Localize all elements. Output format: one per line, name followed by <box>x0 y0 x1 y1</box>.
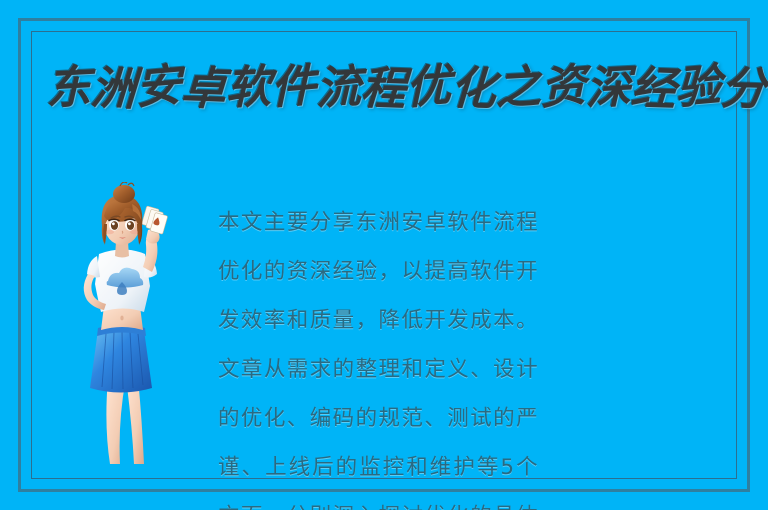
page-title: 东洲安卓软件流程优化之资深经验分享 <box>43 56 748 118</box>
title-char: 经 <box>630 65 677 112</box>
title-char: 优 <box>405 62 452 111</box>
anime-girl-icon <box>68 182 174 482</box>
body-paragraph: 本文主要分享东洲安卓软件流程优化的资深经验，以提高软件开发效率和质量，降低开发成… <box>218 198 538 510</box>
title-char: 分 <box>720 65 767 112</box>
title-char: 件 <box>270 62 317 111</box>
title-char: 程 <box>360 65 407 112</box>
title-char: 资 <box>540 62 587 111</box>
title-char: 软 <box>226 63 272 110</box>
title-char: 深 <box>586 63 632 110</box>
poster-canvas: 东洲安卓软件流程优化之资深经验分享 <box>0 0 768 510</box>
title-char: 洲 <box>90 65 137 112</box>
title-char: 流 <box>316 63 362 110</box>
title-char: 化 <box>450 65 497 112</box>
title-char: 安 <box>135 62 182 111</box>
title-char: 卓 <box>180 65 227 112</box>
title-char: 东 <box>46 63 92 110</box>
title-char: 验 <box>675 62 722 111</box>
title-char: 之 <box>496 63 542 110</box>
illustration-anime-girl <box>68 182 174 482</box>
